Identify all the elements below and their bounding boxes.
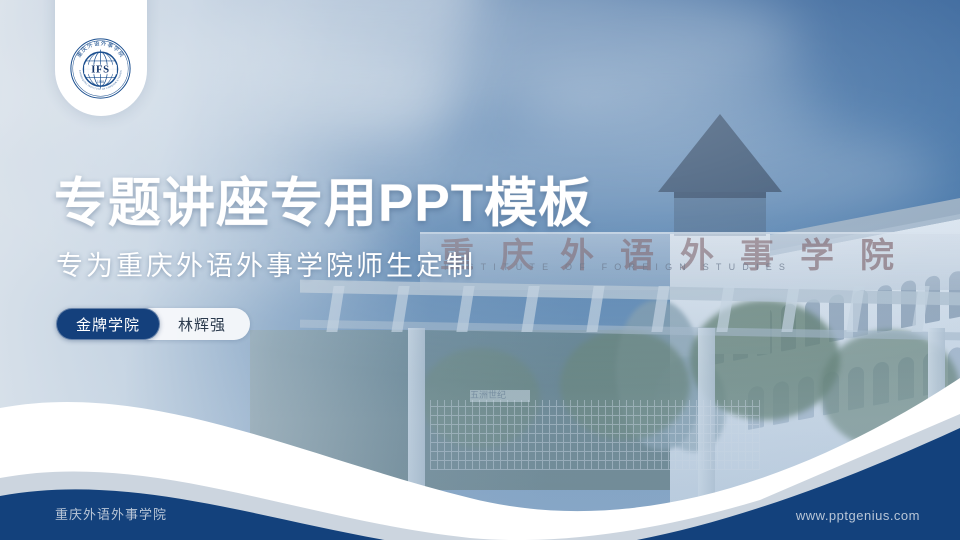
badge-gold-college[interactable]: 金牌学院 bbox=[56, 308, 160, 340]
ifs-university-seal-icon: IFS 1998 重庆外语外事学院 CHONGQING INSTITUTE OF… bbox=[69, 37, 132, 100]
svg-text:IFS: IFS bbox=[91, 64, 110, 76]
slide-title: 专题讲座专用PPT模板 bbox=[54, 161, 592, 237]
footer-school-name: 重庆外语外事学院 bbox=[55, 504, 167, 523]
slide-subtitle: 专为重庆外语外事学院师生定制 bbox=[56, 244, 476, 283]
badge-group: 林辉强 金牌学院 bbox=[56, 308, 250, 340]
ppt-title-slide: 重庆外语外事学院 INSTITUTE OF FOREIGN STUDIES 五洲… bbox=[0, 0, 960, 540]
badge-author[interactable]: 林辉强 bbox=[146, 308, 250, 340]
footer-website[interactable]: www.pptgenius.com bbox=[796, 508, 920, 523]
svg-text:1998: 1998 bbox=[97, 80, 104, 84]
